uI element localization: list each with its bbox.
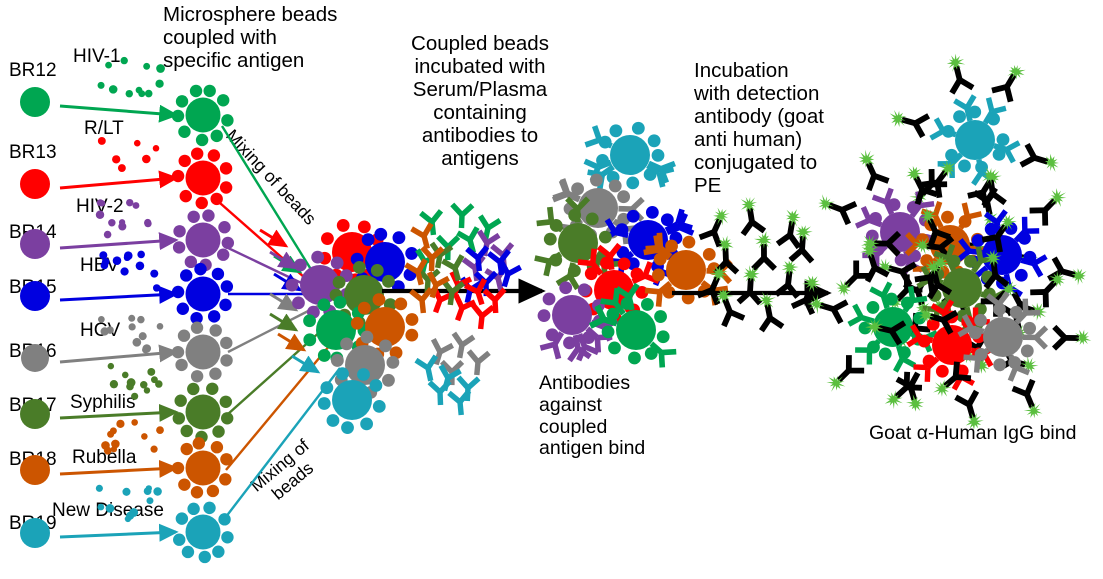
final-detected-cluster — [805, 52, 1092, 433]
antibody-bound-cluster — [535, 122, 731, 368]
antigen-knob — [221, 114, 233, 126]
antigen-knob — [191, 147, 203, 159]
antigen-knob — [212, 546, 224, 558]
antigen-dot — [129, 323, 136, 330]
bead-core — [616, 310, 656, 350]
antigen-knob — [331, 354, 344, 367]
antibody-stem — [438, 255, 440, 268]
antigen-knob — [610, 124, 623, 137]
antibody-arms — [458, 228, 480, 243]
antigen-knob — [657, 330, 670, 343]
free-antibody — [471, 305, 494, 330]
source-bead-br16 — [21, 344, 49, 372]
antigen-dot — [141, 433, 148, 440]
antigen-cloud-br12 — [98, 57, 165, 98]
antigen-knob — [318, 349, 331, 362]
detection-antibody — [1054, 327, 1091, 349]
antigen-dot — [110, 380, 118, 388]
antigen-knob — [211, 441, 223, 453]
antigen-knob — [703, 248, 716, 261]
antigen-knob — [641, 298, 654, 311]
antigen-knob — [202, 209, 214, 221]
coupling-arrow-br16 — [60, 352, 176, 362]
antigen-knob — [178, 330, 190, 342]
antibody-arms — [472, 305, 493, 317]
antigen-knob — [217, 249, 229, 261]
antigen-knob — [208, 149, 220, 161]
antibody-stem — [979, 160, 982, 173]
antibody-arms — [759, 316, 782, 331]
antibody-stem — [498, 278, 501, 291]
antigen-knob — [370, 379, 383, 392]
antibody-arms — [478, 216, 500, 230]
antigen-knob — [879, 348, 892, 361]
antigen-knob — [219, 473, 231, 485]
antigen-knob — [206, 383, 218, 395]
antibody-stem — [576, 335, 578, 348]
antigen-dot — [97, 504, 104, 511]
antigen-dot — [143, 63, 150, 70]
antigen-dot — [98, 137, 106, 145]
antigen-knob — [393, 231, 406, 244]
antigen-dot — [122, 372, 129, 379]
antigen-dot — [153, 284, 160, 291]
antibody-arms — [1021, 144, 1038, 168]
antibody-arms — [912, 113, 928, 137]
antibody-stem — [610, 256, 612, 269]
antigen-knob — [199, 551, 211, 563]
antibody-stem — [461, 215, 462, 228]
antigen-dot — [108, 219, 115, 226]
antibody-stem — [629, 297, 632, 310]
source-bead-br19 — [20, 518, 50, 548]
antigen-knob — [599, 231, 612, 244]
antigen-dot — [133, 202, 140, 209]
antigen-dot — [128, 315, 135, 322]
antibody-stem — [432, 222, 433, 235]
antigen-knob — [190, 85, 202, 97]
free-antibody — [429, 381, 450, 405]
detection-antibody — [815, 191, 856, 224]
antigen-knob — [286, 279, 299, 292]
antigen-dot — [136, 262, 145, 271]
bead-core — [983, 317, 1023, 357]
antibody-stem — [458, 308, 462, 320]
detection-antibody — [753, 231, 775, 269]
free-antibody — [467, 351, 489, 376]
bead-core — [186, 161, 221, 196]
antigen-knob — [578, 283, 591, 296]
antigen-knob — [627, 210, 640, 223]
antigen-knob — [173, 241, 185, 253]
antibody-stem — [899, 346, 903, 359]
antigen-knob — [382, 275, 395, 288]
source-bead-br14 — [20, 229, 50, 259]
graphics-layer — [0, 0, 1103, 579]
source-bead-br17 — [20, 399, 50, 429]
pe-star-icon — [718, 235, 734, 252]
antigen-dot — [144, 487, 152, 495]
bead-core — [332, 380, 372, 420]
antibody-arms — [792, 296, 816, 314]
free-antibody — [451, 204, 472, 228]
antigen-dot — [101, 262, 109, 270]
antigen-dot — [98, 316, 105, 323]
antigen-knob — [340, 338, 353, 351]
antibody-arms — [790, 249, 812, 261]
bead-core — [955, 120, 995, 160]
antigen-knob — [602, 325, 615, 338]
coupled-bead-br15 — [172, 263, 233, 324]
antigen-knob — [219, 299, 231, 311]
mixing-arrow-5 — [270, 294, 296, 310]
antigen-knob — [217, 94, 229, 106]
antigen-dot — [145, 90, 153, 98]
free-antibody — [449, 391, 471, 416]
antigen-knob — [379, 339, 392, 352]
antigen-knob — [196, 197, 208, 209]
antibody-arms — [1013, 380, 1037, 398]
antigen-knob — [173, 412, 185, 424]
antibody-arms — [452, 333, 474, 347]
antigen-dot — [106, 504, 115, 513]
detection-antibody — [886, 106, 929, 137]
antigen-knob — [187, 383, 199, 395]
antigen-cloud-br14 — [96, 199, 152, 238]
pe-star-icon — [710, 205, 733, 228]
detection-antibody — [1030, 183, 1072, 226]
detection-antibody — [1021, 144, 1062, 175]
bead-core — [610, 135, 650, 175]
antibody-arms — [430, 339, 452, 355]
antigen-knob — [1015, 269, 1028, 282]
antibody-stem — [460, 402, 461, 415]
pe-star-icon — [903, 162, 926, 184]
antigen-dot — [96, 211, 104, 219]
antigen-dot — [142, 155, 151, 164]
antigen-dot — [139, 332, 147, 340]
antigen-knob — [179, 155, 191, 167]
antibody-arms — [540, 339, 563, 359]
antigen-knob — [628, 352, 641, 365]
antigen-knob — [358, 220, 371, 233]
antigen-knob — [341, 421, 354, 434]
antibody-stem — [455, 268, 458, 281]
antigen-dot — [108, 363, 114, 369]
antibody-arms — [778, 233, 801, 247]
antigen-dot — [150, 446, 157, 453]
antigen-knob — [405, 329, 418, 342]
antibody-arms — [452, 295, 475, 311]
antibody-stem — [467, 290, 470, 303]
antigen-knob — [608, 342, 621, 355]
antigen-knob — [334, 296, 347, 309]
coupling-arrow-br14 — [60, 240, 176, 248]
antigen-knob — [371, 264, 384, 277]
antigen-knob — [358, 302, 371, 315]
antibody-stem — [478, 292, 482, 304]
antigen-knob — [176, 512, 188, 524]
antigen-knob — [208, 310, 220, 322]
antigen-dot — [116, 420, 124, 428]
antigen-knob — [180, 190, 192, 202]
antigen-knob — [177, 303, 189, 315]
antibody-stem — [999, 304, 1001, 317]
antigen-knob — [207, 485, 219, 497]
antigen-dot — [118, 164, 126, 172]
antigen-knob — [221, 531, 233, 543]
antibody-stem — [450, 292, 452, 305]
antigen-knob — [172, 346, 184, 358]
antigen-knob — [394, 297, 407, 310]
antigen-dot — [104, 231, 112, 239]
antigen-dot — [99, 251, 107, 259]
antibody-stem — [504, 274, 508, 287]
antigen-knob — [386, 356, 399, 369]
antigen-dot — [127, 378, 136, 387]
detection-antibody — [738, 264, 762, 303]
antigen-knob — [357, 368, 370, 381]
coupling-arrow-br15 — [60, 294, 176, 300]
antibody-arms — [956, 391, 980, 407]
antibody-arms — [838, 200, 856, 224]
coupled-bead-br14 — [173, 209, 234, 271]
antibody-arms — [893, 356, 915, 371]
antigen-cloud-br17 — [108, 363, 163, 400]
antibody-arms — [458, 377, 479, 388]
antigen-knob — [191, 322, 203, 334]
antigen-dot — [134, 140, 141, 147]
antibody-stem — [477, 362, 478, 375]
mixing-line-7 — [226, 345, 330, 470]
antigen-knob — [172, 110, 184, 122]
antigen-knob — [618, 257, 631, 270]
antigen-knob — [175, 359, 187, 371]
antigen-dot — [156, 64, 165, 73]
antigen-dot — [153, 145, 160, 152]
antigen-knob — [220, 337, 232, 349]
antigen-knob — [172, 286, 184, 298]
source-bead-br12 — [20, 87, 50, 117]
antigen-knob — [221, 412, 233, 424]
antigen-knob — [212, 268, 224, 280]
antibody-arms — [741, 220, 764, 234]
detection-antibody — [737, 195, 764, 235]
antibody-stem — [570, 263, 573, 276]
coupled-bead-br16 — [172, 322, 233, 383]
antigen-dot — [137, 316, 144, 323]
detection-antibody — [1013, 380, 1047, 422]
antibody-arms — [753, 258, 775, 269]
antigen-knob — [351, 317, 364, 330]
mixing-arrow-7 — [278, 334, 304, 350]
antigen-knob — [176, 95, 188, 107]
antigen-knob — [178, 478, 190, 490]
antigen-knob — [997, 133, 1010, 146]
antibody-arms — [468, 351, 489, 363]
source-bead-br13 — [20, 169, 50, 199]
antibody-stem — [943, 131, 956, 135]
bead-core — [186, 395, 221, 430]
coupled-bead-br17 — [173, 383, 234, 444]
antigen-knob — [303, 314, 316, 327]
antigen-knob — [654, 310, 667, 323]
antigen-knob — [191, 370, 203, 382]
antigen-knob — [182, 546, 194, 558]
antigen-knob — [172, 170, 184, 182]
antibody-stem — [422, 300, 423, 313]
antigen-knob — [196, 134, 208, 146]
antigen-knob — [294, 259, 307, 272]
antigen-dot — [107, 431, 114, 438]
antigen-knob — [337, 219, 350, 232]
antigen-knob — [220, 162, 232, 174]
antigen-cloud-br18 — [101, 419, 164, 455]
detection-antibody — [831, 261, 872, 302]
antigen-knob — [221, 280, 233, 292]
antigen-knob — [321, 232, 334, 245]
antigen-dot — [112, 155, 120, 163]
bead-core — [186, 515, 221, 550]
antigen-knob — [331, 256, 344, 269]
antigen-knob — [317, 298, 330, 311]
bead-core — [186, 98, 221, 133]
antigen-dot — [111, 446, 117, 452]
antigen-dot — [137, 251, 145, 259]
antigen-knob — [203, 85, 215, 97]
antigen-knob — [203, 502, 215, 514]
antigen-knob — [559, 281, 572, 294]
antigen-knob — [303, 333, 316, 346]
antigen-knob — [1023, 322, 1036, 335]
antigen-knob — [361, 331, 374, 344]
antigen-knob — [867, 301, 880, 314]
coupling-arrow-br19 — [60, 532, 176, 537]
detection-antibody — [853, 146, 889, 190]
antibody-arms — [438, 237, 458, 248]
coupled-bead-br12 — [172, 85, 234, 146]
antigen-knob — [360, 417, 373, 430]
antibody-arms — [1036, 327, 1046, 347]
antigen-knob — [590, 174, 603, 187]
antibody-stem — [967, 108, 970, 121]
coupled-bead-br19 — [173, 502, 234, 563]
antibody-arms — [720, 308, 744, 326]
antigen-knob — [172, 462, 184, 474]
source-bead-br18 — [20, 455, 50, 485]
antibody-stem — [481, 316, 482, 329]
antibody-arms — [931, 119, 946, 141]
antigen-knob — [941, 211, 954, 224]
pe-detection-pool — [698, 195, 826, 331]
antigen-knob — [617, 190, 630, 203]
antigen-knob — [193, 437, 205, 449]
antigen-knob — [181, 443, 193, 455]
antigen-dot — [150, 270, 158, 278]
antibody-arms — [1054, 327, 1065, 349]
antigen-dot — [120, 57, 127, 64]
antigen-dot — [120, 267, 128, 275]
antibody-stem — [432, 285, 436, 297]
antigen-dot — [126, 199, 133, 206]
antigen-dot — [146, 497, 153, 504]
antigen-knob — [544, 233, 557, 246]
antibody-stem — [495, 300, 496, 313]
antigen-dot — [132, 338, 141, 347]
antibody-stem — [1021, 260, 1034, 263]
antigen-knob — [974, 314, 987, 327]
bead-core — [186, 277, 221, 312]
antigen-dot — [131, 393, 138, 400]
antigen-knob — [953, 110, 966, 123]
antigen-dot — [113, 256, 122, 265]
antigen-dot — [140, 381, 147, 388]
antigen-knob — [646, 206, 659, 219]
antigen-knob — [209, 367, 221, 379]
antibody-stem — [460, 345, 462, 358]
antigen-knob — [382, 374, 395, 387]
antigen-knob — [682, 236, 695, 249]
antigen-knob — [220, 396, 232, 408]
mixing-arrow-2 — [260, 230, 286, 246]
mixing-arrow-3 — [270, 252, 296, 268]
coupling-arrow-br17 — [60, 412, 176, 418]
antibody-arms — [492, 244, 513, 256]
antibody-arms — [449, 391, 470, 403]
antigen-knob — [626, 176, 639, 189]
antigen-knob — [194, 263, 206, 275]
antigen-dot — [138, 90, 145, 97]
antigen-knob — [609, 180, 622, 193]
antigen-dot — [131, 419, 138, 426]
antigen-knob — [218, 221, 230, 233]
antigen-dot — [106, 326, 114, 334]
antigen-dot — [124, 251, 133, 260]
antigen-knob — [311, 251, 324, 264]
antibody-stem — [478, 258, 479, 271]
antigen-knob — [180, 269, 192, 281]
antigen-cloud-br13 — [98, 137, 159, 172]
antibody-stem — [971, 328, 984, 332]
antibody-stem — [994, 146, 1006, 150]
antigen-knob — [220, 354, 232, 366]
antigen-dot — [105, 62, 112, 69]
diagram-canvas: Microsphere beads coupled with specific … — [0, 0, 1103, 579]
coupled-bead-br13 — [172, 147, 232, 209]
antigen-knob — [174, 395, 186, 407]
antigen-knob — [212, 425, 224, 437]
antigen-knob — [374, 228, 387, 241]
antigen-dot — [155, 80, 163, 88]
antibody-arms — [830, 299, 847, 323]
bead — [596, 122, 664, 189]
antigen-dot — [125, 516, 131, 522]
antigen-dot — [98, 82, 105, 89]
bead-core — [552, 295, 592, 335]
antigen-dot — [157, 323, 164, 330]
antigen-knob — [586, 213, 599, 226]
antigen-dot — [109, 85, 118, 94]
antibody-arms — [452, 204, 473, 215]
detection-antibody — [943, 52, 973, 94]
free-antibody — [467, 247, 490, 272]
antigen-knob — [652, 269, 665, 282]
antigen-knob — [405, 247, 418, 260]
antigen-knob — [336, 367, 349, 380]
coupling-arrow-br18 — [60, 468, 176, 474]
antigen-knob — [362, 233, 375, 246]
source-bead-br15 — [20, 281, 50, 311]
